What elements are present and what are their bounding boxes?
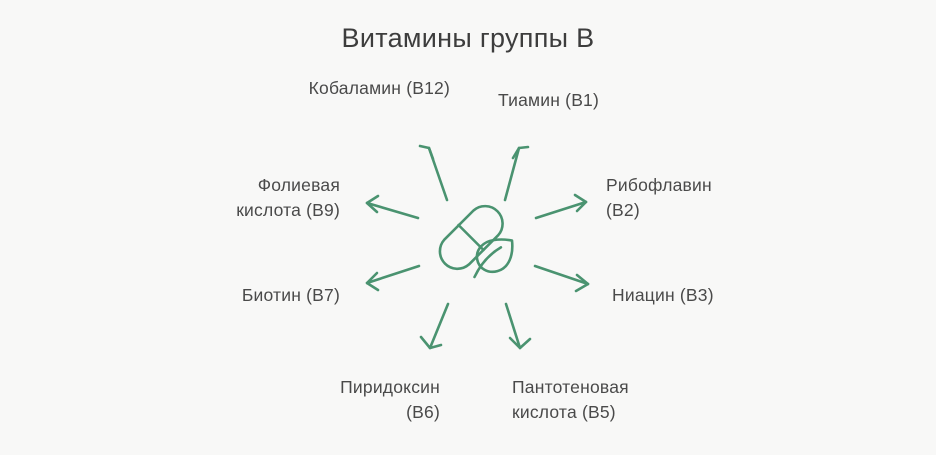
arrow-to-b2 [536,195,586,218]
capsule-leaf-icon [428,192,528,292]
arrow-to-b9 [367,196,418,218]
vitamin-label-b6: Пиридоксин (B6) [225,375,440,426]
arrow-to-b3 [535,266,588,291]
vitamin-label-b9: Фолиевая кислота (B9) [140,173,340,224]
vitamin-label-b2: Рибофлавин (B2) [606,173,816,224]
vitamin-label-b5: Пантотеновая кислота (B5) [512,375,742,426]
vitamin-label-b1: Тиамин (B1) [498,88,778,113]
vitamin-label-b12: Кобаламин (B12) [170,76,450,101]
arrow-to-b6 [421,304,448,348]
page-title: Витамины группы B [0,22,936,54]
vitamin-b-infographic: Витамины группы B [0,0,936,455]
vitamin-label-b3: Ниацин (B3) [612,283,832,308]
arrow-to-b7 [367,266,419,290]
arrow-to-b5 [506,304,530,348]
vitamin-label-b7: Биотин (B7) [130,283,340,308]
